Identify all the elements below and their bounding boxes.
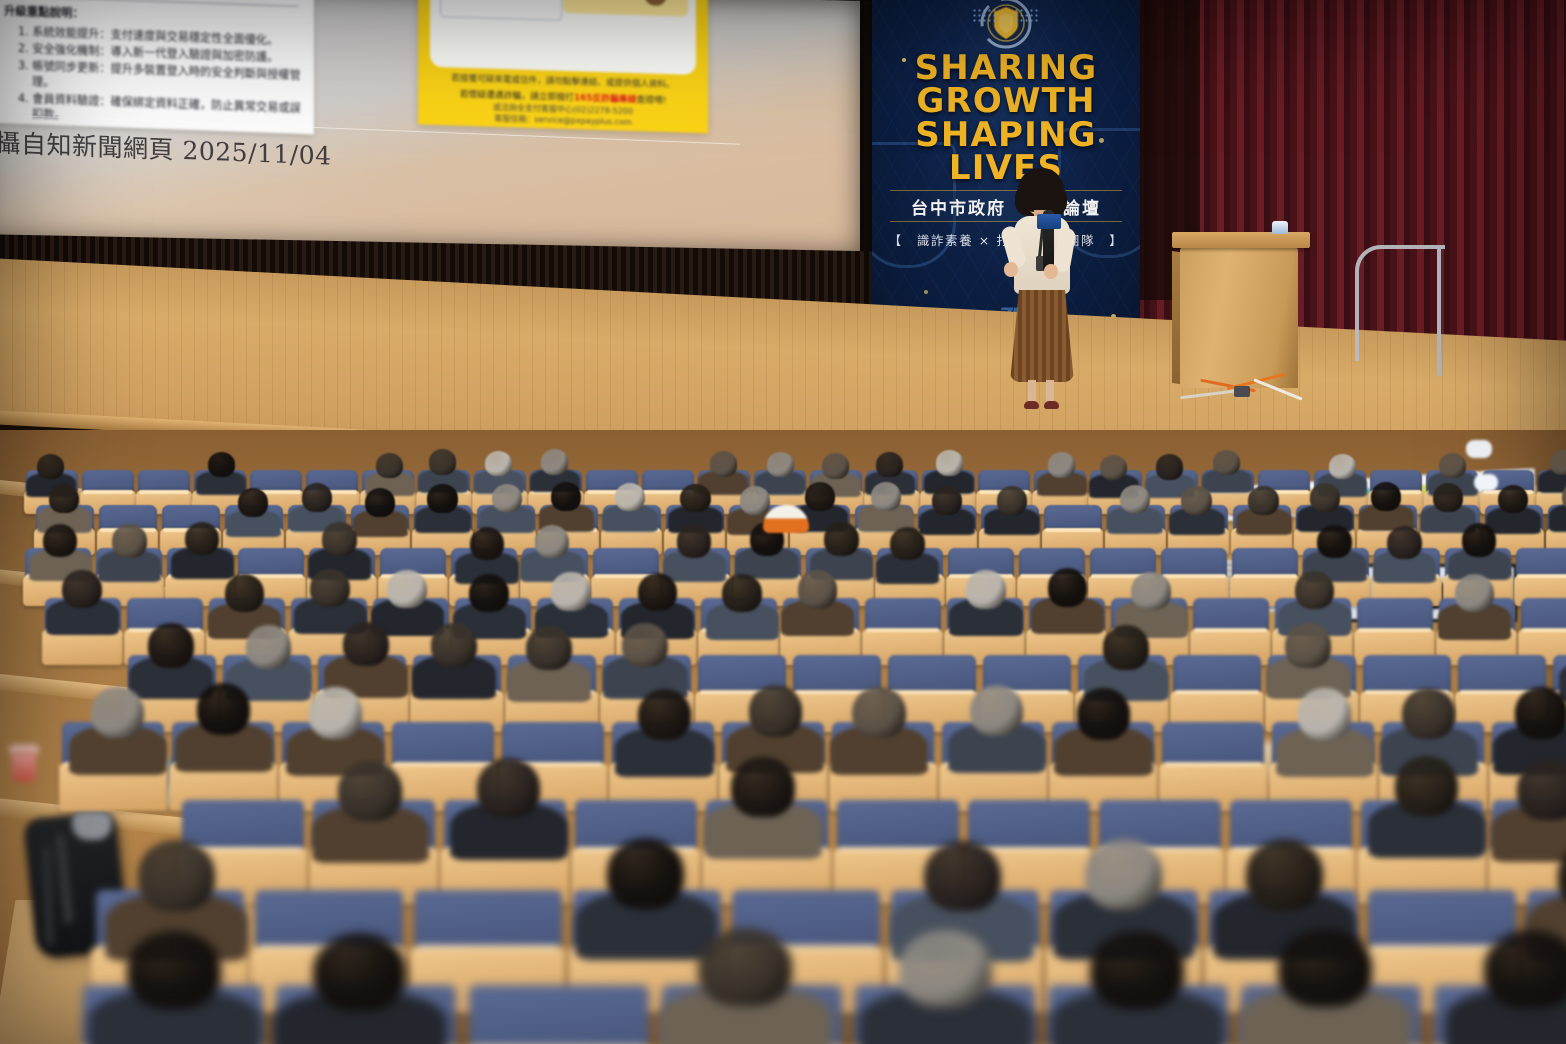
- audience-member-head: [470, 527, 504, 561]
- banner-title-line: SHAPING: [872, 119, 1140, 152]
- backpack-strap: [55, 834, 74, 925]
- speaker: [996, 168, 1086, 413]
- stage-cables: [1180, 378, 1310, 404]
- audience-member-head: [1156, 454, 1183, 479]
- audience-member-head: [824, 522, 858, 556]
- audience-member-head: [899, 930, 993, 1008]
- seat-highlight: [1522, 628, 1566, 632]
- audience-member-head: [197, 683, 250, 735]
- audience-member-head: [1484, 930, 1566, 1008]
- audience-member-head: [970, 685, 1023, 737]
- seat-highlight: [1233, 574, 1296, 578]
- audience-member-head: [387, 570, 427, 608]
- audience-member-head: [767, 452, 794, 477]
- auditorium-seat[interactable]: [1516, 548, 1566, 604]
- audience-member-head: [1120, 485, 1150, 514]
- audience-member-head: [1077, 688, 1130, 740]
- audience-member-head: [622, 623, 668, 667]
- seat-highlight: [1164, 762, 1262, 766]
- speaker-skirt: [1010, 290, 1074, 382]
- seat-highlight: [1358, 628, 1431, 632]
- audience-member-head: [541, 449, 568, 474]
- audience-member-head: [431, 623, 477, 667]
- dot-matrix-icon: [1014, 8, 1040, 24]
- seat-highlight: [1045, 528, 1101, 532]
- audience-member-head: [43, 524, 77, 558]
- audience-member-head: [225, 574, 265, 612]
- audience-member-head: [966, 570, 1006, 608]
- audience-member-head: [710, 451, 737, 476]
- audience-member-head: [322, 522, 356, 556]
- audience-member-head: [112, 524, 146, 558]
- shoe: [1044, 401, 1059, 409]
- seat-highlight: [417, 945, 559, 949]
- auditorium-seat[interactable]: [1044, 505, 1102, 553]
- right-hand: [1044, 264, 1058, 279]
- audience-member-head: [1395, 756, 1458, 816]
- backpack-top-pad: [72, 806, 112, 840]
- audience-member-head: [1131, 572, 1171, 610]
- audience-member-head: [343, 622, 389, 666]
- audience-member-head: [1402, 688, 1455, 740]
- audience-member-head: [309, 687, 362, 739]
- audience-member-head: [1329, 454, 1356, 479]
- audience-member-head: [1462, 523, 1496, 557]
- auditorium-seat[interactable]: [1232, 548, 1298, 604]
- audience-member-head: [535, 525, 569, 559]
- audience-member-head: [91, 687, 144, 739]
- microphone-flag: [1037, 214, 1061, 229]
- auditorium-seat[interactable]: [865, 598, 941, 662]
- audience-member-head: [365, 488, 395, 517]
- audience-member-head: [1048, 568, 1088, 606]
- audience-member-head: [615, 483, 645, 512]
- audience-member-head: [731, 757, 794, 817]
- audience-member-head: [310, 569, 350, 607]
- dot-matrix-icon: [972, 8, 998, 24]
- audience-member-head: [1317, 525, 1351, 559]
- audience-member-head: [890, 527, 924, 561]
- face-mask: [1466, 440, 1492, 458]
- seat-highlight: [866, 628, 939, 632]
- audience-member-head: [427, 484, 457, 513]
- audience-member-head: [1387, 526, 1421, 560]
- audience-member-head: [1100, 455, 1127, 480]
- audience-member-head: [677, 524, 711, 558]
- audience-member-head: [1295, 571, 1335, 609]
- audience-member-head: [208, 452, 235, 477]
- audience-member-head: [607, 838, 684, 909]
- audience-member-head: [477, 758, 540, 818]
- audience-member-head: [1278, 929, 1372, 1007]
- audience-member-head: [1439, 453, 1466, 478]
- auditorium-seat[interactable]: [1193, 598, 1269, 662]
- audience-member-head: [127, 931, 221, 1009]
- audience-member-head: [740, 486, 770, 515]
- banner-title: SHARING GROWTH SHAPING LIVES: [872, 52, 1140, 185]
- seat-highlight: [1517, 574, 1566, 578]
- seat-highlight: [1194, 628, 1267, 632]
- shoe: [1024, 401, 1039, 409]
- audience-member-head: [1048, 452, 1075, 477]
- audience-member-head: [822, 453, 849, 478]
- audience-member-head: [805, 482, 835, 511]
- audience-member-head: [338, 761, 401, 821]
- audience-member-head: [429, 449, 456, 474]
- audience-member-shoulders: [1549, 504, 1566, 531]
- audience-member-head: [1213, 450, 1240, 475]
- audience-member-head: [936, 450, 963, 475]
- audience-member-head: [1181, 486, 1211, 515]
- audience-member-head: [1517, 760, 1566, 820]
- audience-member-head: [698, 928, 792, 1006]
- audience-member-head: [924, 841, 1001, 912]
- drink-cup: [12, 752, 36, 782]
- audience-member-head: [148, 623, 194, 667]
- audience-member-head: [302, 483, 332, 512]
- light-spark: [1099, 138, 1104, 143]
- auditorium-seat[interactable]: [1173, 655, 1261, 729]
- audience-member-head: [138, 840, 215, 911]
- audience-member-head: [722, 574, 762, 612]
- audience-member-head: [852, 687, 905, 739]
- screen-frame: [0, 0, 874, 259]
- light-spark: [902, 58, 906, 62]
- audience-member-head: [313, 933, 407, 1011]
- audience-member-head: [1248, 486, 1278, 515]
- audience-member-head: [1433, 483, 1463, 512]
- face-mask: [1474, 474, 1498, 491]
- seat-highlight: [890, 690, 974, 694]
- paper-cup: [1272, 221, 1288, 234]
- seat-highlight: [1175, 690, 1259, 694]
- audience-member-head: [638, 689, 691, 741]
- auditorium-seat[interactable]: [1521, 598, 1566, 662]
- audience-member-head: [1298, 688, 1351, 740]
- podium-top: [1172, 232, 1310, 248]
- audience-member-head: [185, 522, 219, 556]
- audience-member-head: [997, 486, 1027, 515]
- seat-backrest: [469, 985, 649, 1044]
- podium-body: [1180, 248, 1298, 388]
- audience-member-head: [1371, 482, 1401, 511]
- audience-member-head: [469, 574, 509, 612]
- seat-highlight: [394, 762, 492, 766]
- audience-member-head: [1515, 687, 1566, 739]
- audience-member-head: [62, 570, 102, 608]
- audience-member-head: [485, 451, 512, 476]
- audience-member-head: [1246, 839, 1323, 910]
- audience-member-head: [871, 482, 901, 511]
- light-spark: [924, 290, 928, 294]
- seat-highlight: [83, 490, 133, 494]
- audience-member-head: [376, 453, 403, 478]
- audience-member-head: [551, 482, 581, 511]
- audience-member-head: [492, 484, 522, 513]
- auditorium-scene: ……進程約 3～5 分鐘，完成後即可恢復完整功能並 享有最新版本的安全防護。 升…: [0, 0, 1566, 1044]
- seat-highlight: [1162, 574, 1225, 578]
- audience-member-head: [49, 484, 79, 513]
- audience-member-head: [37, 454, 64, 479]
- hair-top: [1018, 168, 1064, 212]
- handrail-post: [1437, 248, 1441, 376]
- auditorium-seat[interactable]: [469, 985, 649, 1044]
- audience-member-head: [876, 452, 903, 477]
- audience-member-head: [551, 572, 591, 610]
- audience-member-head: [1285, 623, 1331, 667]
- audience-member-head: [1498, 485, 1528, 514]
- audience-member-head: [680, 484, 710, 513]
- audience-member-head: [526, 626, 572, 670]
- audience-member-head: [1103, 625, 1149, 669]
- audience-member-head: [638, 573, 678, 611]
- banner-title-line: SHARING: [872, 52, 1140, 85]
- backpack-strap: [41, 846, 54, 946]
- audience-member-head: [1455, 574, 1495, 612]
- audience-member-head: [798, 570, 838, 608]
- audience-member-head: [1090, 931, 1184, 1009]
- audience-member-head: [749, 685, 802, 737]
- left-hand: [1004, 262, 1018, 277]
- audience-member-head: [246, 625, 292, 669]
- audience-member-head: [932, 486, 962, 515]
- seat-highlight: [139, 490, 189, 494]
- audience-member-head: [1085, 839, 1162, 910]
- banner-title-line: GROWTH: [872, 85, 1140, 118]
- podium: [1172, 232, 1310, 390]
- auditorium-seat[interactable]: [1162, 722, 1264, 808]
- auditorium-seat[interactable]: [1161, 548, 1227, 604]
- audience-member-head: [1310, 483, 1340, 512]
- stage-handrail: [1355, 245, 1445, 361]
- auditorium-seat[interactable]: [1357, 598, 1433, 662]
- audience-member-head: [238, 488, 268, 517]
